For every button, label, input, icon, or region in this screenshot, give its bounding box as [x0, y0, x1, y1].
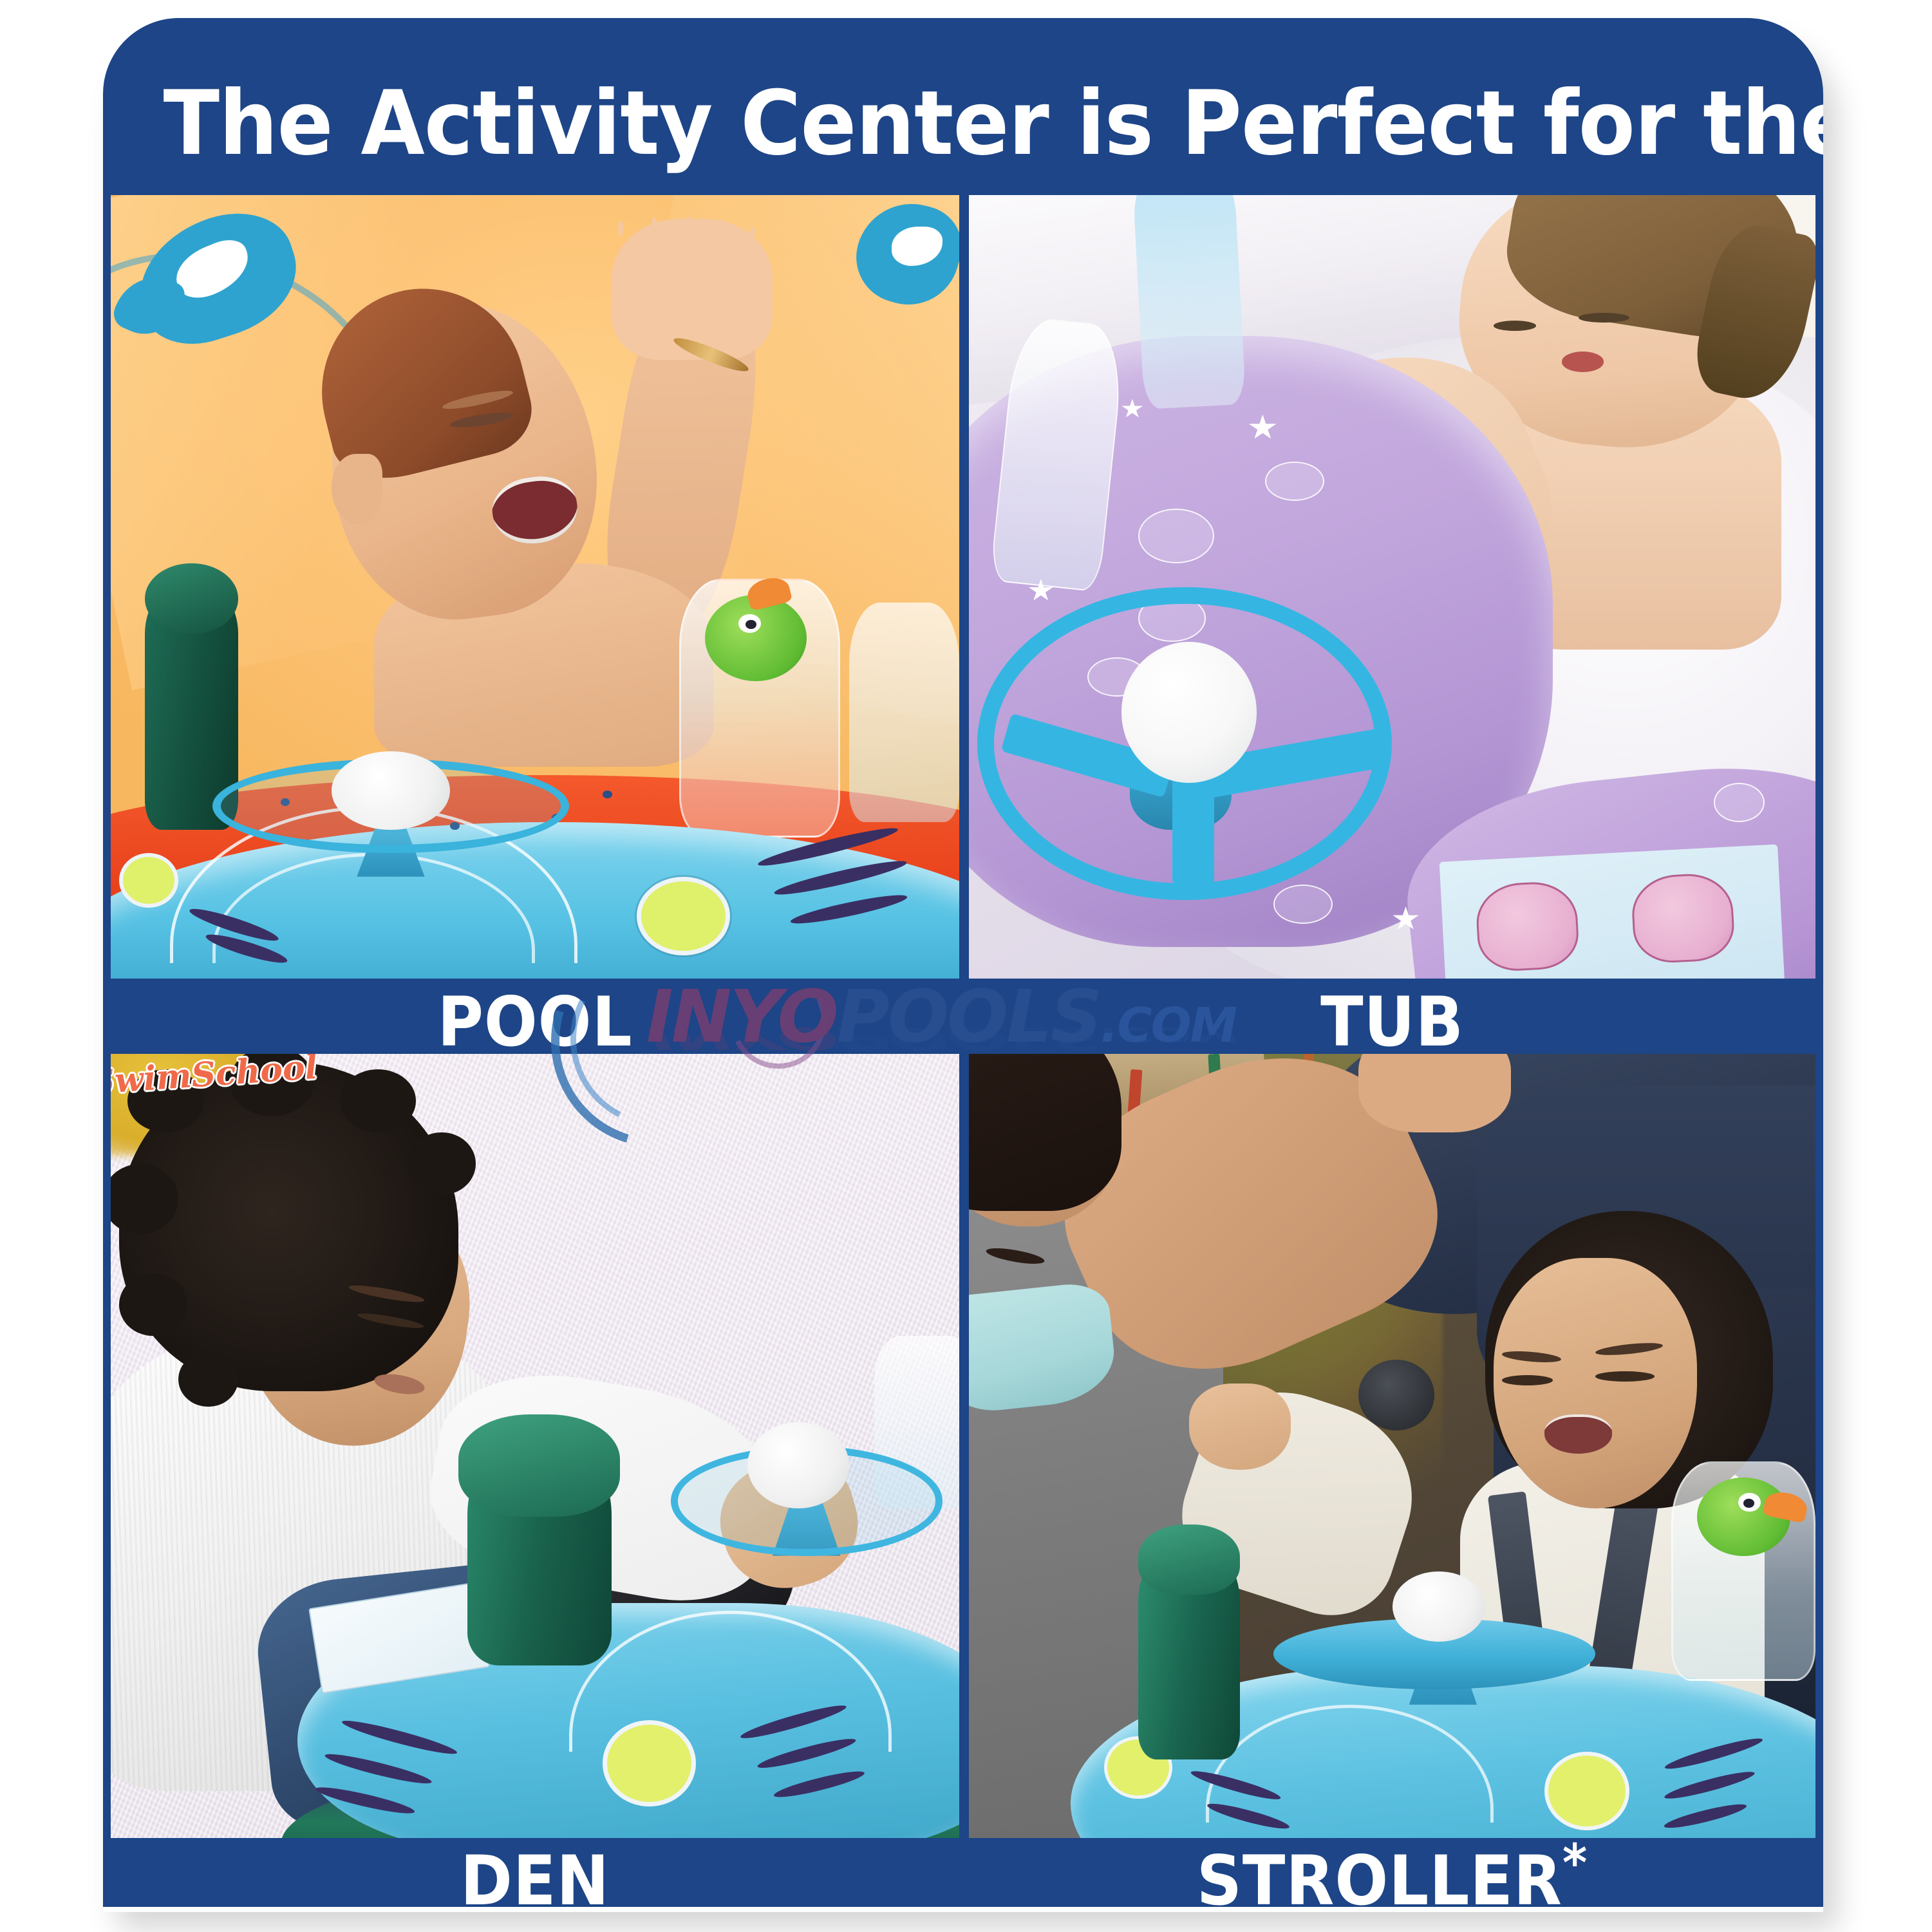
photo-tub [969, 195, 1815, 979]
child-hand [612, 219, 773, 360]
steering-wheel-horn-knob [332, 751, 451, 830]
photo-tile-den[interactable]: SwimSchool [111, 1054, 959, 1838]
caption-stroller-label: STROLLER [1197, 1841, 1562, 1907]
porthole-icon [637, 877, 730, 955]
child-hand [1189, 1383, 1291, 1470]
photo-tile-pool[interactable] [111, 195, 959, 979]
water-toy-right [849, 603, 959, 822]
photo-pool [111, 195, 959, 979]
child-mouth [1562, 352, 1604, 372]
caption-stroller: STROLLER* [1003, 1841, 1782, 1907]
caption-pool: POOL [138, 982, 933, 1062]
page-title: The Activity Center is Perfect for the [164, 77, 1763, 171]
photo-tile-stroller[interactable] [969, 1054, 1815, 1838]
photo-den: SwimSchool [111, 1054, 959, 1838]
caption-stroller-asterisk: * [1562, 1834, 1588, 1893]
joystick-top [1138, 1524, 1240, 1595]
adult-hand [1358, 1054, 1511, 1132]
product-marketing-image: The Activity Center is Perfect for the [0, 0, 1932, 1932]
bath-book-toy [1440, 845, 1785, 979]
child-open-mouth [1544, 1414, 1612, 1454]
joystick-top [145, 563, 238, 634]
fish-pupil [746, 620, 756, 630]
stroller-hinge [1358, 1360, 1434, 1430]
caption-den: DEN [138, 1841, 933, 1907]
porthole-icon [1544, 1752, 1629, 1830]
blue-card-panel: The Activity Center is Perfect for the [103, 18, 1823, 1907]
steering-wheel-horn-knob [1393, 1571, 1486, 1642]
photo-tile-tub[interactable] [969, 195, 1815, 979]
porthole-icon [603, 1720, 696, 1806]
joystick-top [458, 1414, 619, 1516]
steering-wheel-horn-knob [1121, 642, 1257, 783]
photo-stroller [969, 1054, 1815, 1838]
adult-hair [969, 1054, 1121, 1211]
steering-wheel-horn-knob [747, 1422, 849, 1508]
caption-tub: TUB [1003, 982, 1782, 1062]
water-rattle-toy-top [1132, 195, 1246, 409]
child-ear [332, 454, 382, 525]
